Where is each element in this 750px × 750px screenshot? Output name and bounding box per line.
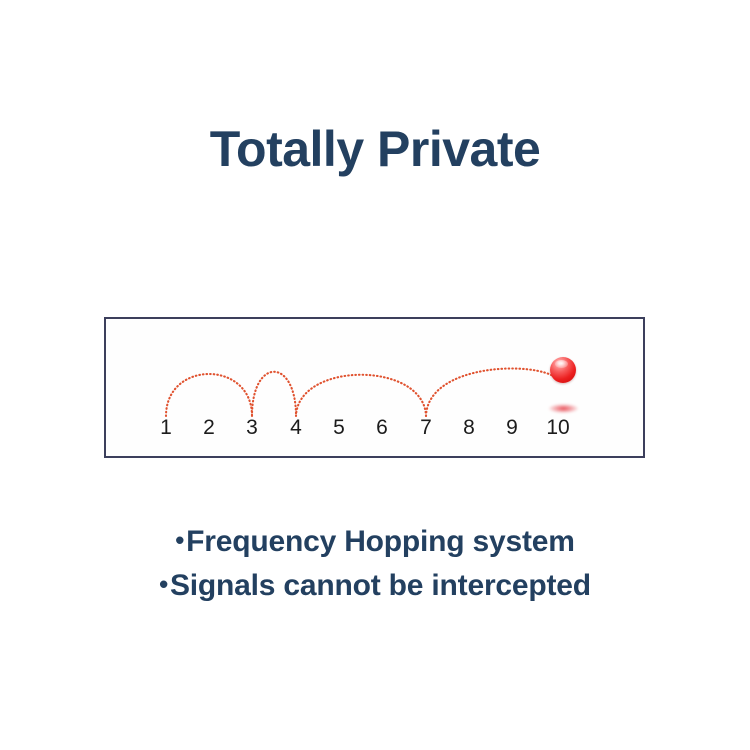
axis-tick-7: 7	[406, 415, 446, 441]
bullet-item-1: •Frequency Hopping system	[0, 519, 750, 563]
hop-arc-group	[166, 369, 556, 416]
hop-arc-7-to-10	[426, 369, 556, 416]
page-title: Totally Private	[0, 119, 750, 179]
bullet-dot-icon: •	[175, 525, 184, 555]
signal-marker-sphere	[550, 357, 576, 383]
axis-tick-10: 10	[538, 415, 578, 441]
signal-marker-shadow	[549, 404, 578, 413]
axis-tick-6: 6	[362, 415, 402, 441]
hop-arc-4-to-7	[296, 375, 426, 416]
bullet-item-2-label: Signals cannot be intercepted	[170, 569, 591, 602]
axis-tick-4: 4	[276, 415, 316, 441]
frequency-hopping-chart-panel: 1 2 3 4 5 6 7 8 9 10	[104, 317, 645, 458]
axis-tick-8: 8	[449, 415, 489, 441]
bullet-list: •Frequency Hopping system •Signals canno…	[0, 519, 750, 607]
hop-arc-3-to-4	[252, 372, 296, 416]
slide-canvas: Totally Private 1 2 3 4 5 6 7 8 9 10	[0, 0, 750, 750]
bullet-dot-icon: •	[159, 569, 168, 599]
axis-tick-5: 5	[319, 415, 359, 441]
bullet-item-1-label: Frequency Hopping system	[186, 525, 575, 558]
axis-tick-2: 2	[189, 415, 229, 441]
hop-arc-1-to-3	[166, 374, 252, 416]
bullet-item-2: •Signals cannot be intercepted	[0, 563, 750, 607]
x-axis-tick-labels: 1 2 3 4 5 6 7 8 9 10	[106, 415, 643, 445]
axis-tick-3: 3	[232, 415, 272, 441]
axis-tick-9: 9	[492, 415, 532, 441]
axis-tick-1: 1	[146, 415, 186, 441]
